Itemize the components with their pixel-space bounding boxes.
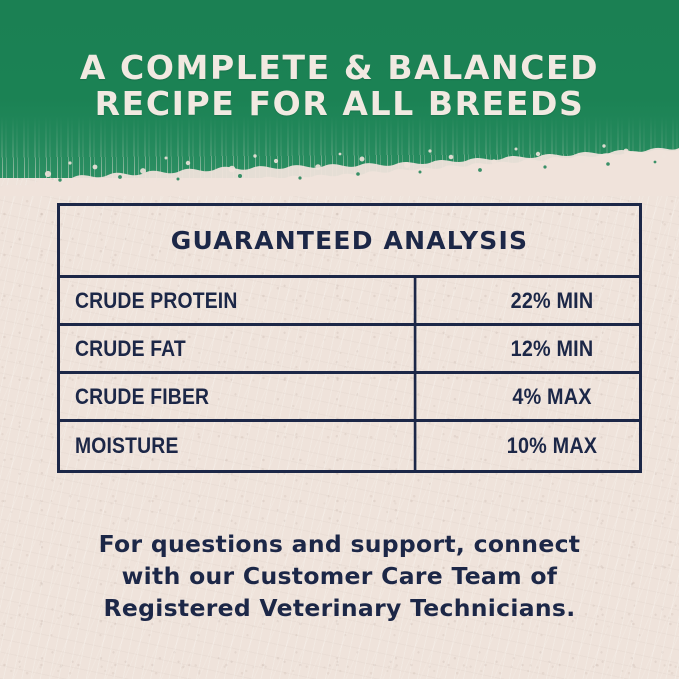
guaranteed-analysis-table: GUARANTEED ANALYSIS CRUDE PROTEIN 22% MI… xyxy=(57,203,642,473)
nutrient-label: CRUDE PROTEIN xyxy=(60,278,416,323)
headline-line-1: A COMPLETE & BALANCED xyxy=(0,50,679,86)
nutrient-label: MOISTURE xyxy=(60,422,416,470)
guaranteed-analysis-title: GUARANTEED ANALYSIS xyxy=(171,226,528,255)
nutrient-label: CRUDE FIBER xyxy=(60,374,416,419)
support-message-line-3: Registered Veterinary Technicians. xyxy=(0,592,679,624)
support-message: For questions and support, connect with … xyxy=(0,528,679,624)
table-row: CRUDE FAT 12% MIN xyxy=(60,326,639,374)
nutrient-value: 10% MAX xyxy=(474,422,631,470)
product-info-panel: A COMPLETE & BALANCED RECIPE FOR ALL BRE… xyxy=(0,0,679,679)
support-message-line-2: with our Customer Care Team of xyxy=(0,560,679,592)
nutrient-value: 12% MIN xyxy=(474,326,631,371)
nutrient-label: CRUDE FAT xyxy=(60,326,416,371)
nutrient-value: 22% MIN xyxy=(474,278,631,323)
table-row: MOISTURE 10% MAX xyxy=(60,422,639,470)
nutrient-value: 4% MAX xyxy=(474,374,631,419)
table-row: CRUDE PROTEIN 22% MIN xyxy=(60,278,639,326)
support-message-line-1: For questions and support, connect xyxy=(0,528,679,560)
headline-line-2: RECIPE FOR ALL BREEDS xyxy=(0,86,679,122)
guaranteed-analysis-header: GUARANTEED ANALYSIS xyxy=(60,206,639,278)
table-row: CRUDE FIBER 4% MAX xyxy=(60,374,639,422)
banner-headline: A COMPLETE & BALANCED RECIPE FOR ALL BRE… xyxy=(0,50,679,122)
brush-stroke-texture xyxy=(0,116,679,178)
